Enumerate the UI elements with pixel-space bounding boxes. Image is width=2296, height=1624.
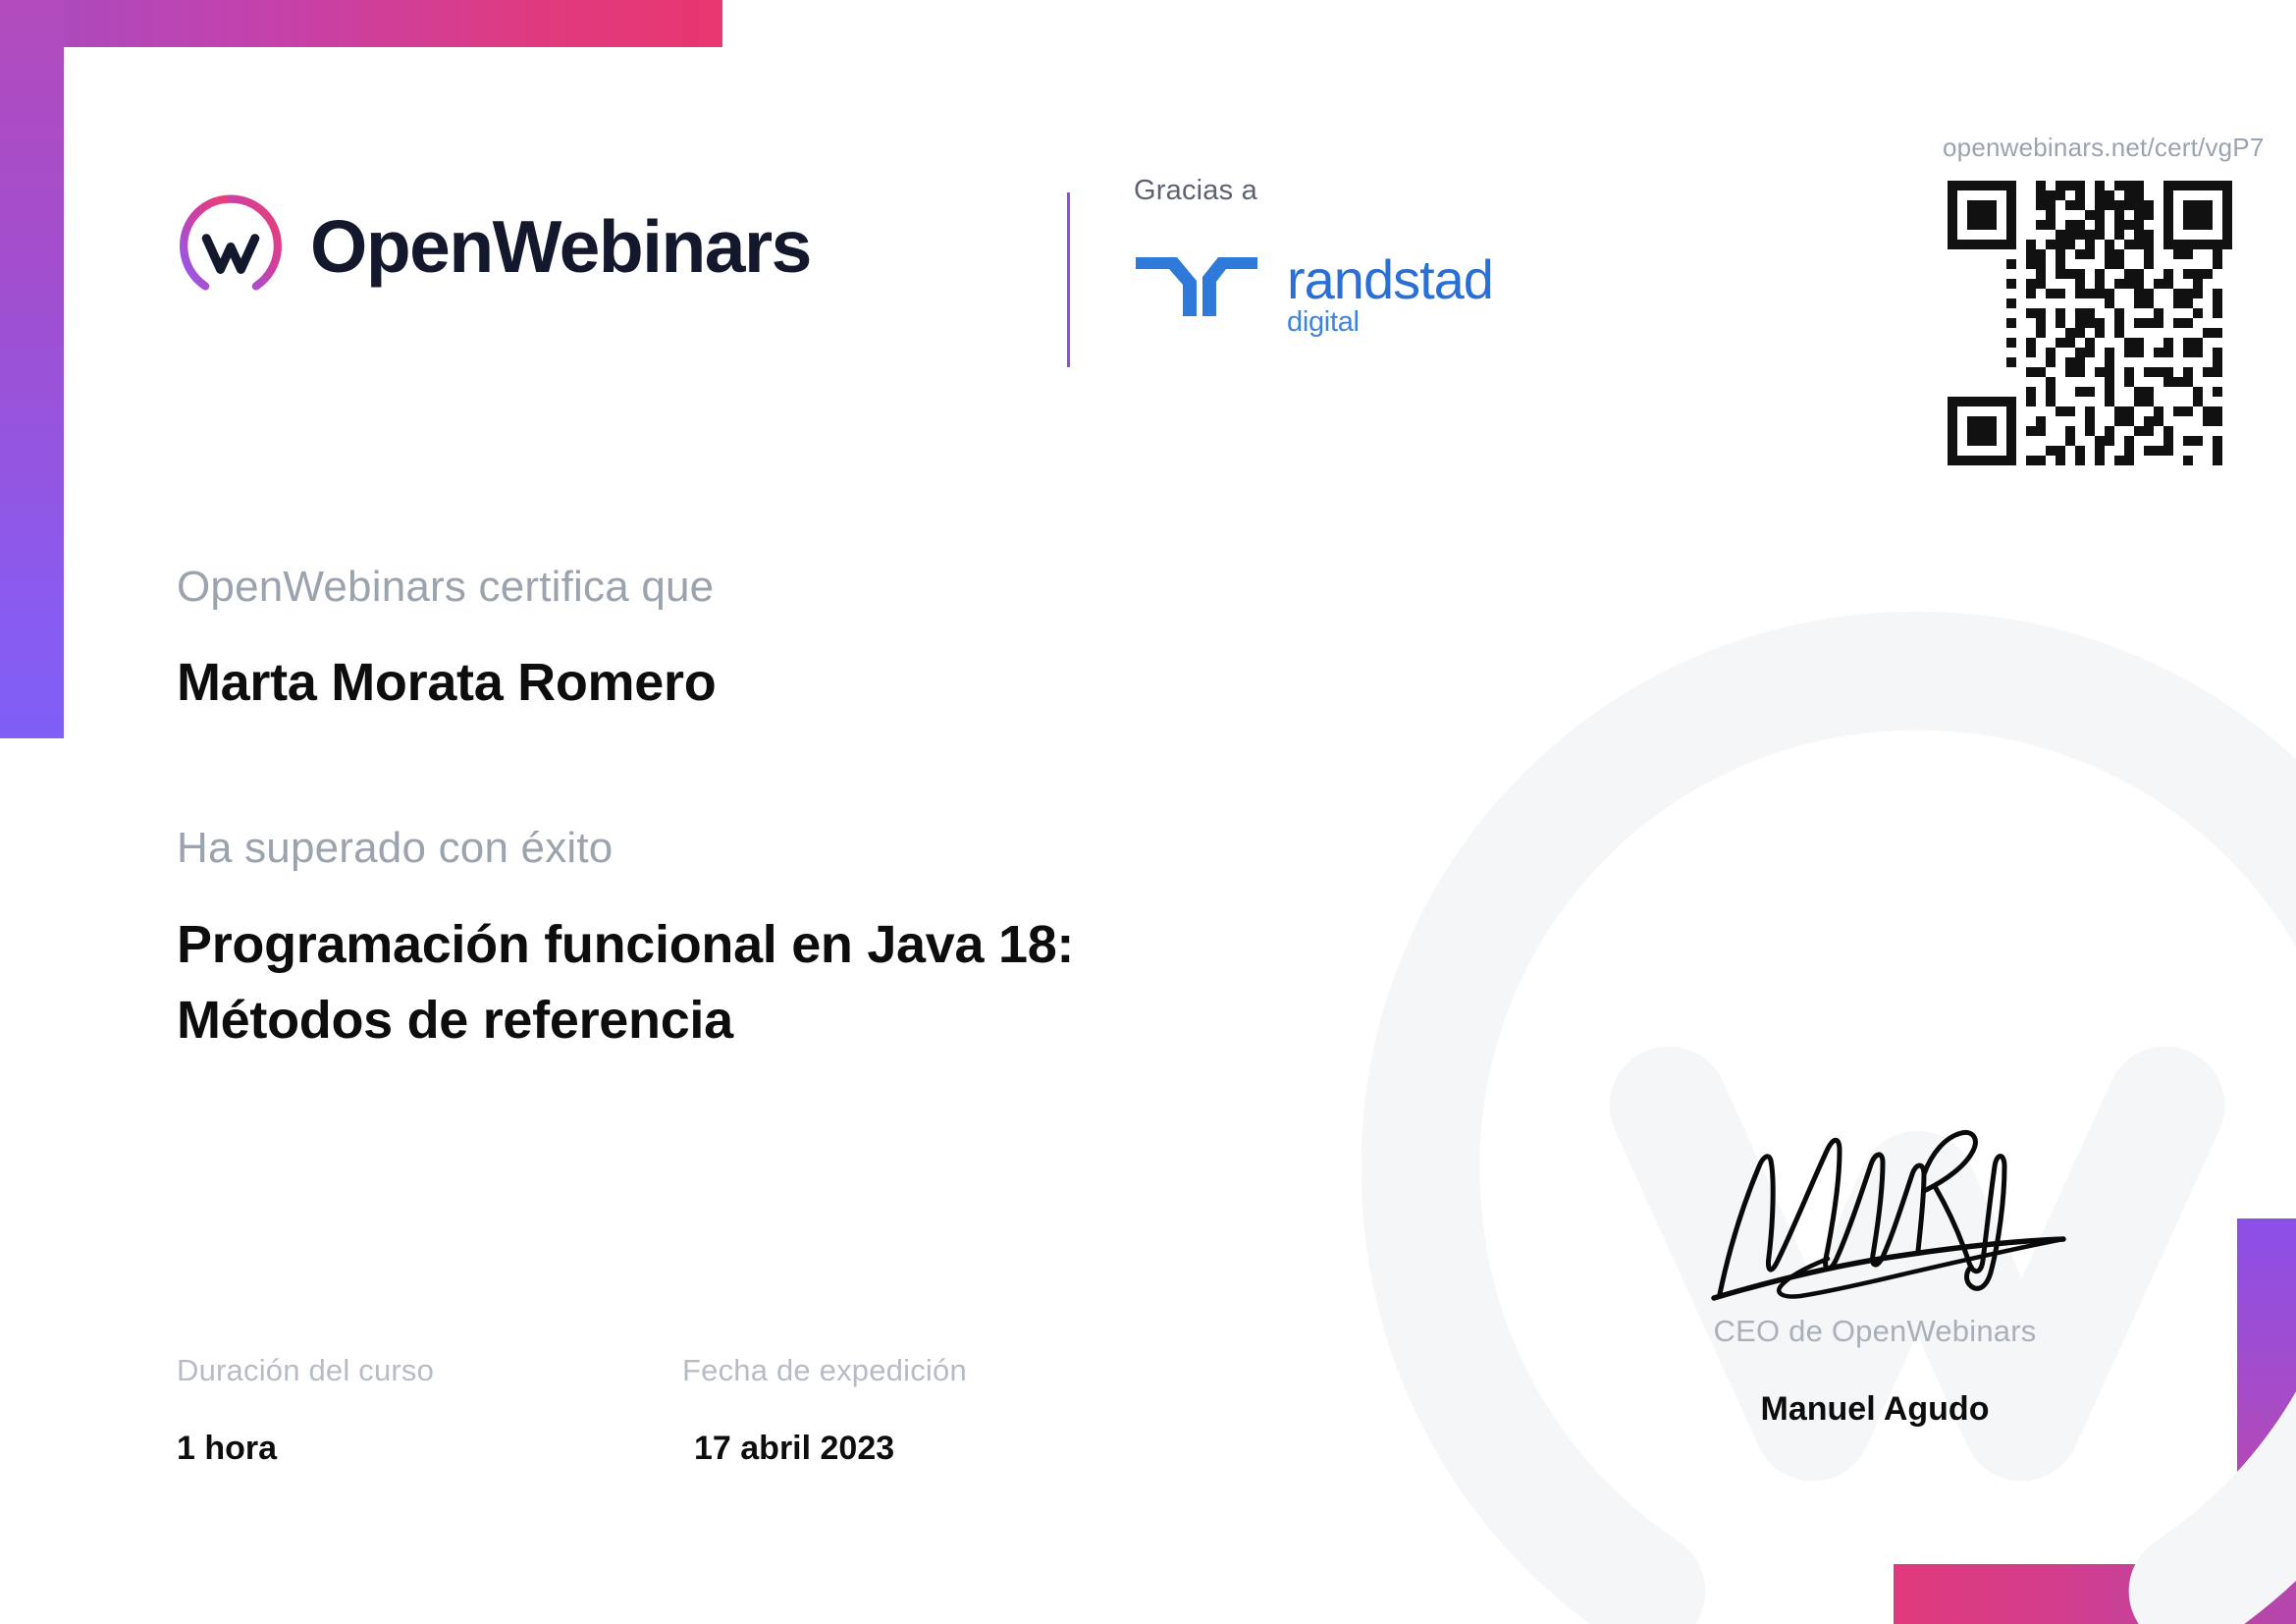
certifies-label: OpenWebinars certifica que [177, 562, 1355, 614]
qr-code-icon[interactable] [1948, 181, 2232, 465]
meta-duration-label: Duración del curso [177, 1353, 682, 1388]
randstad-mark-icon [1134, 251, 1259, 320]
openwebinars-wordmark: OpenWebinars [310, 210, 811, 284]
recipient-name: Marta Morata Romero [177, 651, 1355, 715]
randstad-text-lockup: randstad digital [1287, 251, 1493, 337]
verification-url: openwebinars.net/cert/vgP7 [1943, 133, 2237, 163]
signatory-name: Manuel Agudo [1659, 1390, 2091, 1429]
sponsor-thanks-label: Gracias a [1134, 175, 1257, 207]
randstad-subtitle: digital [1287, 308, 1493, 337]
meta-issue-date-label: Fecha de expedición [682, 1353, 1188, 1388]
meta-duration: Duración del curso 1 hora [177, 1353, 682, 1468]
openwebinars-logo: OpenWebinars [177, 192, 811, 300]
randstad-digital-logo: randstad digital [1134, 251, 1493, 337]
randstad-name: randstad [1287, 248, 1493, 310]
meta-duration-value: 1 hora [177, 1430, 682, 1468]
course-title: Programación funcional en Java 18: Métod… [177, 907, 1217, 1057]
meta-issue-date: Fecha de expedición 17 abril 2023 [682, 1353, 1188, 1468]
corner-accent-bottom-right-horizontal [1894, 1564, 2296, 1624]
certificate-meta: Duración del curso 1 hora Fecha de exped… [177, 1353, 1188, 1468]
completed-label: Ha superado con éxito [177, 823, 1355, 875]
signature-block: CEO de OpenWebinars Manuel Agudo [1659, 1110, 2091, 1429]
verification-block[interactable]: openwebinars.net/cert/vgP7 [1943, 133, 2237, 465]
signatory-role: CEO de OpenWebinars [1659, 1314, 2091, 1349]
certificate-statement: OpenWebinars certifica que Marta Morata … [177, 562, 1355, 1058]
openwebinars-ring-w-icon [177, 192, 285, 300]
sponsor-divider [1067, 192, 1070, 367]
certificate-header: OpenWebinars Gracias a randstad digital … [0, 0, 2296, 353]
meta-issue-date-value: 17 abril 2023 [682, 1430, 1188, 1468]
certificate-page: OpenWebinars Gracias a randstad digital … [0, 0, 2296, 1624]
handwritten-signature-icon [1679, 1110, 2071, 1306]
